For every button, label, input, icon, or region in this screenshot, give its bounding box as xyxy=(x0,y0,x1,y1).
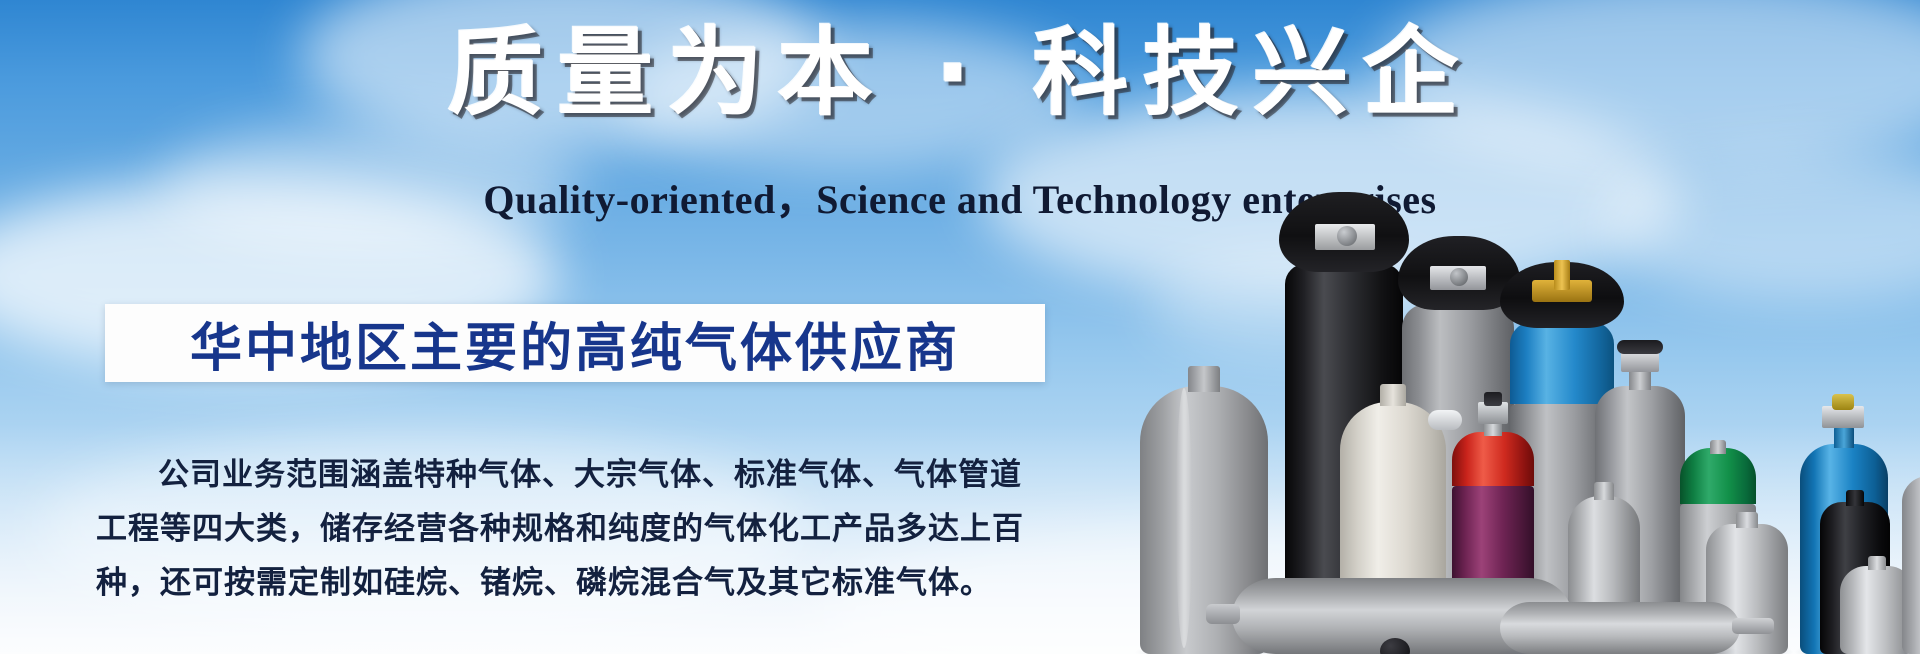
banner-paragraph: 公司业务范围涵盖特种气体、大宗气体、标准气体、气体管道 工程等四大类，储存经营各… xyxy=(96,448,1056,610)
callout-box: 华中地区主要的高纯气体供应商 xyxy=(105,304,1045,382)
cylinder-aluminium-tall xyxy=(1902,454,1920,654)
paragraph-line: 种，还可按需定制如硅烷、锗烷、磷烷混合气及其它标准气体。 xyxy=(96,556,1056,610)
callout-text: 华中地区主要的高纯气体供应商 xyxy=(190,306,960,381)
paragraph-line: 工程等四大类，储存经营各种规格和纯度的气体化工产品多达上百 xyxy=(96,502,1056,556)
promo-banner: 质量为本 · 科技兴企 Quality-oriented，Science and… xyxy=(0,0,1920,654)
paragraph-line: 公司业务范围涵盖特种气体、大宗气体、标准气体、气体管道 xyxy=(96,448,1056,502)
gas-cylinder-group-image xyxy=(1140,150,1920,654)
tank-horizontal-small xyxy=(1500,592,1740,654)
banner-headline: 质量为本 · 科技兴企 xyxy=(0,18,1920,128)
